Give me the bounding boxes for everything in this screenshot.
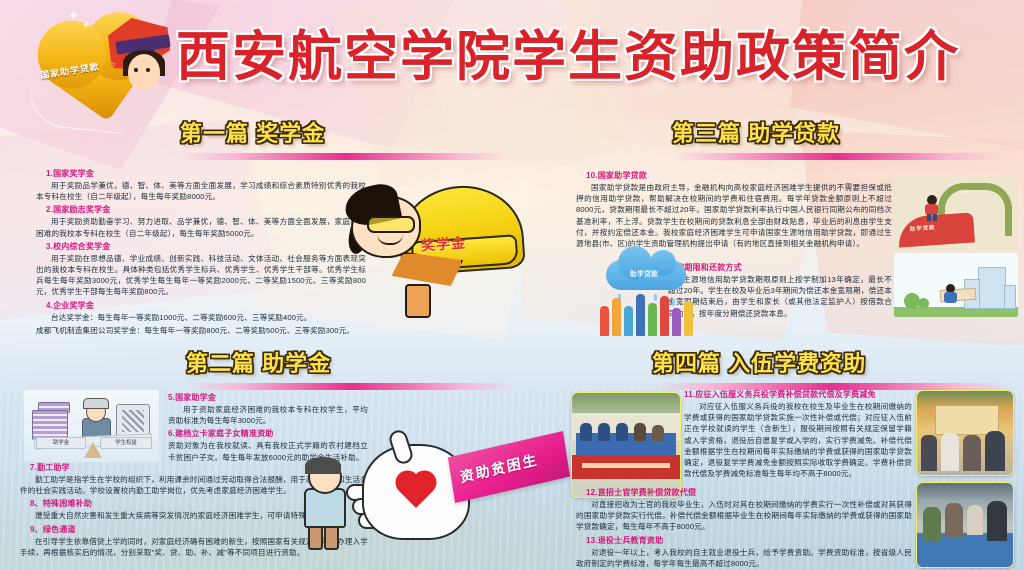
students-reading-noticeboard-photo xyxy=(916,390,1014,476)
graduate-student-icon xyxy=(122,42,166,94)
item-heading: 2.国家励志奖学金 xyxy=(46,204,366,215)
item-body: 台达奖学金：每生每年一等奖励1000元、二等奖励600元、三等奖励400元。 xyxy=(36,312,366,323)
page-title: 西安航空学院学生资助政策简介 xyxy=(176,28,996,86)
title-underline xyxy=(180,153,510,160)
military-recruitment-desk-photo xyxy=(571,392,681,498)
aid-banner: 资助贫困生 xyxy=(448,431,570,503)
item-heading: 1.国家奖学金 xyxy=(46,168,366,179)
item-body-2: 成都飞机制造集团公司奖学金：每生每年一等奖励800元、二等奖励500元、三等奖励… xyxy=(36,325,366,336)
poster-root: 国家助学贷款 ✦ ✦ 西安航空学院学生资助政策简介 第一篇 奖学金 1.国家奖学… xyxy=(0,0,1024,570)
scale-left-label: 助学金 xyxy=(36,437,86,449)
aid-banner-text: 资助贫困生 xyxy=(459,449,540,487)
poor-student-icon xyxy=(300,460,350,546)
section-1-text: 1.国家奖学金 用于奖励品学兼优，德、智、体、美等方面全面发展，学习成绩和综合素… xyxy=(36,168,366,338)
sparkle-icon: ✦ xyxy=(82,20,90,31)
bridge-to-campus-illustration: 大学 助学贷款 xyxy=(894,175,1018,251)
section-4-text-bottom: 12.直招士官学费补偿贷款代偿 对直接招收为士官的我校毕业生，入伍时对其在校期间… xyxy=(576,487,912,570)
title-underline xyxy=(186,383,516,390)
item-heading: 10.国家助学贷款 xyxy=(586,170,892,181)
scholarship-ingot-illustration: 奖学金 xyxy=(343,176,528,316)
student-to-city-illustration xyxy=(894,253,1018,317)
item-body: 用于奖励品学兼优，德、智、体、美等方面全面发展，学习成绩和综合素质特别优秀的我校… xyxy=(36,180,366,202)
item-body: 对直接招收为士官的我校毕业生，入伍时对其在校期间缴纳的学费实行一次性补偿或对其获… xyxy=(576,499,912,533)
scale-right-label: 学生权益 xyxy=(100,437,152,449)
section-4-text-top: 11.应征入伍服义务兵役学费补偿贷款代偿及学费减免 对应征入伍服义务兵役的我校在… xyxy=(684,389,912,481)
ingot-label: 奖学金 xyxy=(420,232,466,255)
item-heading: 4.企业奖学金 xyxy=(46,300,366,311)
item-heading: 13.退役士兵教育资助 xyxy=(586,535,912,546)
cloud-icon: 助学贷款 xyxy=(606,260,686,290)
red-heart-icon xyxy=(396,472,432,505)
item-heading: 5.国家助学金 xyxy=(168,392,368,403)
section-3-text: 10.国家助学贷款 国家助学贷款是由政府主导，金融机构向高校家庭经济困难学生提供… xyxy=(576,170,892,251)
section-title-2: 第二篇 助学金 xyxy=(186,346,516,390)
item-body: 对退役一年以上，考入我校的自主就业退役士兵，给予学费资助。学费资助标准，按省级人… xyxy=(576,547,912,569)
registration-table-photo xyxy=(916,482,1014,568)
logo-cluster: 国家助学贷款 ✦ ✦ xyxy=(10,4,200,119)
item-body: 国家助学贷款是由政府主导，金融机构向高校家庭经济困难学生提供的不需要担保或抵押的… xyxy=(576,182,892,249)
aid-balance-illustration: 助学金 学生权益 xyxy=(24,390,159,462)
worker-icon xyxy=(78,398,114,440)
section-title-1: 第一篇 奖学金 xyxy=(180,116,510,160)
student-figure-icon xyxy=(924,195,940,217)
section-title-4: 第四篇 入伍学费资助 xyxy=(652,346,1012,390)
loan-cloud-illustration: 助学贷款 xyxy=(592,258,707,336)
item-body: 用于奖励在思想品德、学业成绩、创新实践、科技活动、文体活动、社会服务等方面表现突… xyxy=(36,253,366,298)
sparkle-icon: ✦ xyxy=(68,8,79,24)
cloud-label: 助学贷款 xyxy=(630,268,658,278)
helping-hand-illustration: 资助贫困生 xyxy=(300,424,555,556)
item-body: 用于奖励资助勤奋学习、努力进取、品学兼优，德、智、体、美等方面全面发展，家庭经济… xyxy=(36,216,366,238)
item-heading: 11.应征入伍服义务兵役学费补偿贷款代偿及学费减免 xyxy=(684,389,912,400)
item-body: 对应征入伍服义务兵役的我校在校生及毕业生在校期间缴纳的学费或获得的国家助学贷款实… xyxy=(684,401,912,479)
item-heading: 3.校内综合奖学金 xyxy=(46,241,366,252)
item-heading: 12.直招士官学费补偿贷款代偿 xyxy=(586,487,912,498)
section-title-3: 第三篇 助学贷款 xyxy=(672,116,1002,160)
poster-header: 国家助学贷款 ✦ ✦ 西安航空学院学生资助政策简介 xyxy=(0,0,1024,108)
title-underline xyxy=(672,153,1002,160)
